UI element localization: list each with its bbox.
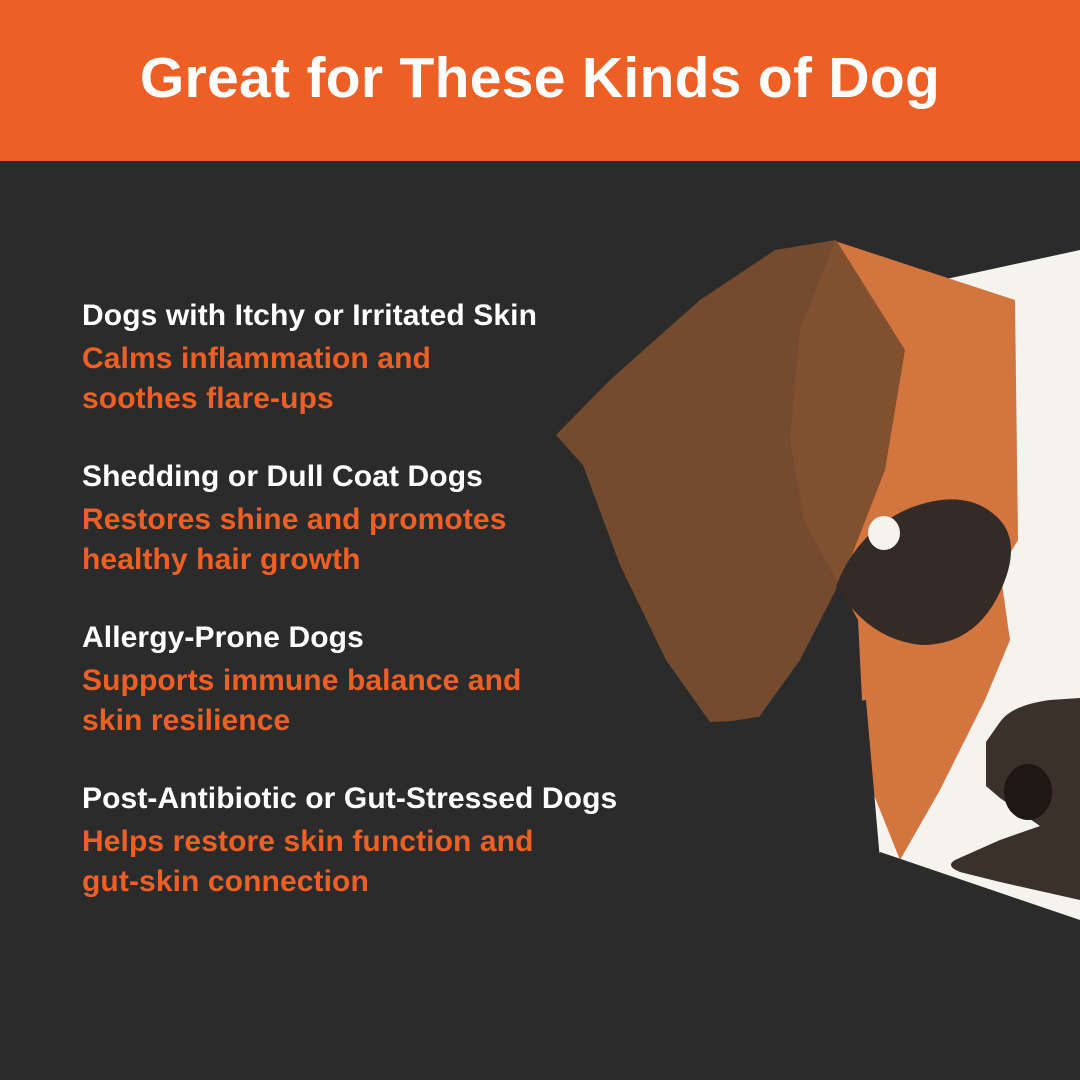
header-banner: Great for These Kinds of Dog [0, 0, 1080, 161]
dog-muzzle-cream-shape [862, 250, 1080, 1080]
benefit-description: Restores shine and promotes healthy hair… [82, 500, 552, 580]
benefit-title: Dogs with Itchy or Irritated Skin [82, 296, 682, 336]
dog-nostril [1004, 764, 1052, 820]
benefit-item: Shedding or Dull Coat Dogs Restores shin… [82, 457, 682, 580]
benefit-title: Allergy-Prone Dogs [82, 618, 682, 658]
benefit-title: Shedding or Dull Coat Dogs [82, 457, 682, 497]
page-title: Great for These Kinds of Dog [140, 50, 940, 111]
dog-chin-shadow-wedge [820, 852, 1080, 1080]
benefits-list: Dogs with Itchy or Irritated Skin Calms … [82, 296, 682, 902]
benefit-description: Supports immune balance and skin resilie… [82, 661, 552, 741]
dog-eye-shape [836, 499, 1011, 645]
benefit-title: Post-Antibiotic or Gut-Stressed Dogs [82, 779, 682, 819]
dog-nose-shape [951, 698, 1080, 900]
benefit-item: Post-Antibiotic or Gut-Stressed Dogs Hel… [82, 779, 682, 902]
benefit-item: Dogs with Itchy or Irritated Skin Calms … [82, 296, 682, 419]
poster-canvas: Great for These Kinds of Dog Dogs with I… [0, 0, 1080, 1080]
dog-face-patch-shape [790, 241, 1018, 860]
benefit-item: Allergy-Prone Dogs Supports immune balan… [82, 618, 682, 741]
benefit-description: Calms inflammation and soothes flare-ups [82, 339, 552, 419]
benefit-description: Helps restore skin function and gut-skin… [82, 822, 582, 902]
dog-eye-highlight [868, 516, 900, 550]
